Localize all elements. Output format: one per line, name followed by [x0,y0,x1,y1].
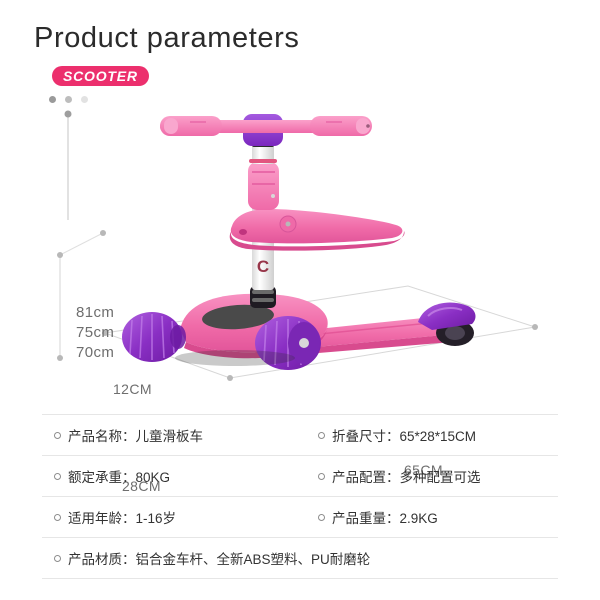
scooter-badge: SCOOTER [52,66,149,86]
bullet-icon [318,514,325,521]
bullet-icon [54,514,61,521]
product-image-stage: S C [0,100,600,405]
bullet-icon [54,555,61,562]
product-parameters-page: Product parameters SCOOTER [0,0,600,600]
front-left-wheel [122,312,186,362]
spec-folded-size: 折叠尺寸：65*28*15CM [314,425,558,445]
svg-text:C: C [257,257,269,276]
spec-text: 产品名称：儿童滑板车 [68,425,203,445]
stem-collar-clamp [248,162,279,210]
deck-shadow [175,350,295,366]
table-row: 产品材质：铝合金车杆、全新ABS塑料、PU耐磨轮 [42,538,558,579]
spec-text: 折叠尺寸：65*28*15CM [332,425,476,445]
page-title: Product parameters [34,22,299,55]
spec-text: 适用年龄：1-16岁 [68,507,176,527]
bullet-icon [318,473,325,480]
width-dimension-label: 12CM [113,381,152,397]
spec-configuration: 产品配置：多种配置可选 [314,466,558,486]
spec-text: 产品材质：铝合金车杆、全新ABS塑料、PU耐磨轮 [68,548,370,568]
table-row: 额定承重：80KG 产品配置：多种配置可选 [42,456,558,497]
spec-product-name: 产品名称：儿童滑板车 [42,425,314,445]
specifications-table: 产品名称：儿童滑板车 折叠尺寸：65*28*15CM 额定承重：80KG 产品配… [42,414,558,579]
spec-load-capacity: 额定承重：80KG [42,466,314,486]
spec-age-range: 适用年龄：1-16岁 [42,507,314,527]
bullet-icon [318,432,325,439]
spec-weight: 产品重量：2.9KG [314,507,558,527]
height-dimension-node [65,111,72,118]
spec-material: 产品材质：铝合金车杆、全新ABS塑料、PU耐磨轮 [42,548,558,568]
height-label-1: 81cm [76,303,114,323]
height-dimension-labels: 81cm 75cm 70cm [76,303,114,363]
bullet-icon [54,473,61,480]
height-label-2: 75cm [76,323,114,343]
spec-text: 额定承重：80KG [68,466,170,486]
table-row: 产品名称：儿童滑板车 折叠尺寸：65*28*15CM [42,414,558,456]
spec-text: 产品配置：多种配置可选 [332,466,481,486]
table-row: 适用年龄：1-16岁 产品重量：2.9KG [42,497,558,538]
bullet-icon [54,432,61,439]
height-label-3: 70cm [76,343,114,363]
spec-text: 产品重量：2.9KG [332,507,438,527]
